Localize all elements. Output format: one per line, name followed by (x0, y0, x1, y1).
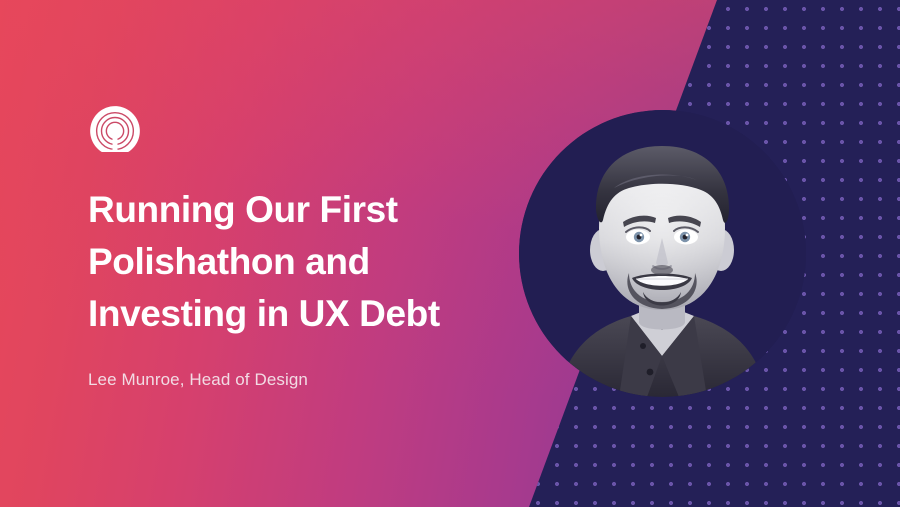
speaker-portrait-photo (519, 110, 806, 397)
onesignal-broadcast-logo-icon (88, 104, 142, 158)
presentation-slide: Running Our First Polishathon and Invest… (0, 0, 900, 507)
page-title: Running Our First Polishathon and Invest… (88, 184, 518, 340)
speaker-byline: Lee Munroe, Head of Design (88, 340, 518, 392)
slide-content: Running Our First Polishathon and Invest… (88, 104, 518, 392)
